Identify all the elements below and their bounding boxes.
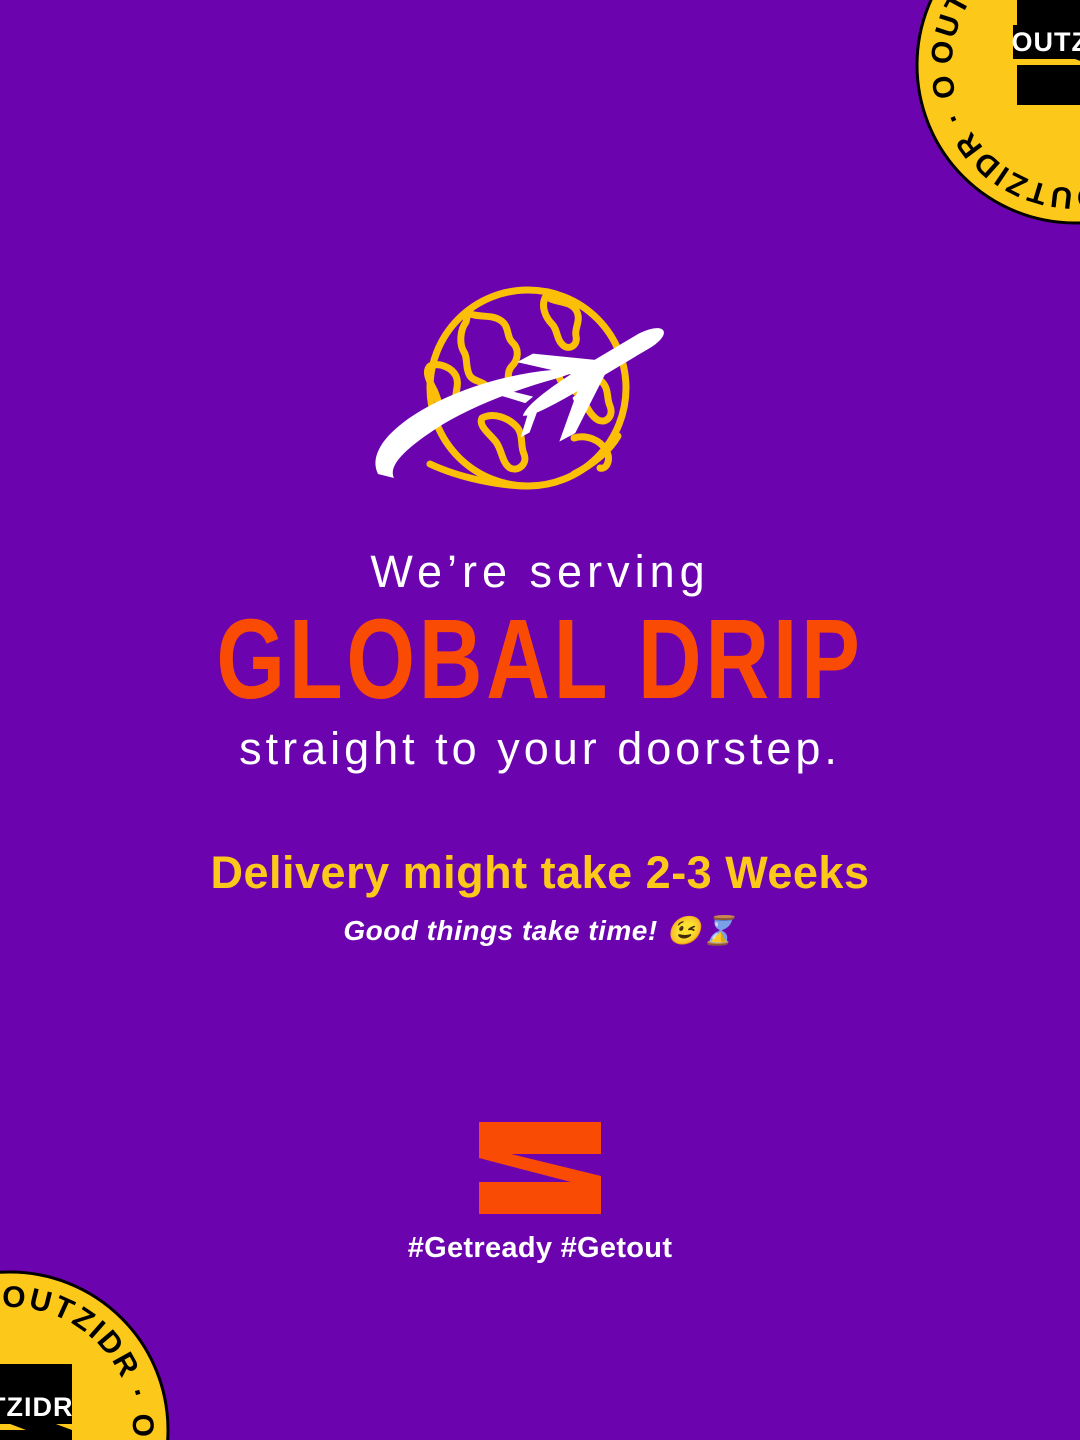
outzidr-sticker-top-right: OUTZIDR · OUTZIDR · OUTZIDR · OUTZIDR · …	[915, 0, 1080, 225]
outzidr-z-logo	[475, 1120, 605, 1216]
message-block: We’re serving GLOBAL DRIP straight to yo…	[0, 548, 1080, 947]
outzidr-sticker-bottom-left: OUTZIDR · OUTZIDR · OUTZIDR · OUTZIDR · …	[0, 1270, 170, 1440]
delivery-estimate-text: Delivery might take 2-3 Weeks	[0, 848, 1080, 898]
globe-with-airplane-icon	[360, 278, 720, 518]
eyebrow-text: We’re serving	[0, 548, 1080, 595]
footer-block: #Getready #Getout	[0, 1120, 1080, 1265]
subline-text: straight to your doorstep.	[0, 725, 1080, 772]
page-title: GLOBAL DRIP	[43, 599, 1037, 721]
reassurance-text: Good things take time! 😉⌛	[0, 914, 1080, 948]
hashtags-text: #Getready #Getout	[0, 1232, 1080, 1265]
promo-poster: OUTZIDR · OUTZIDR · OUTZIDR · OUTZIDR · …	[0, 0, 1080, 1440]
svg-text:OUTZIDR: OUTZIDR	[0, 1392, 73, 1422]
svg-text:OUTZIDR: OUTZIDR	[1012, 27, 1080, 57]
